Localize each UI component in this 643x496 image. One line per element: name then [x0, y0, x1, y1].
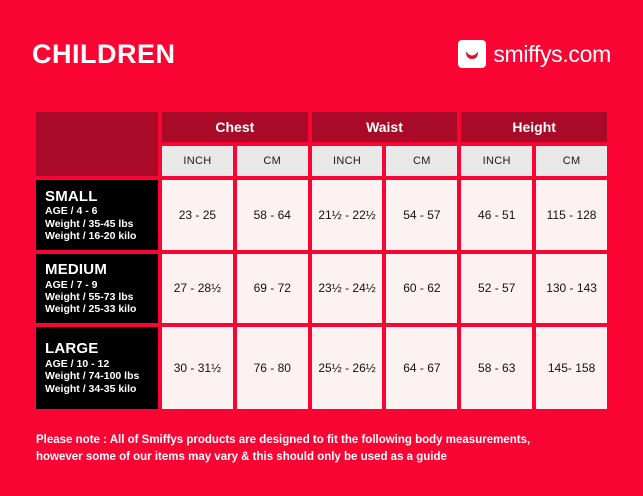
- size-name: SMALL: [45, 188, 158, 206]
- group-header-chest: Chest: [162, 112, 308, 142]
- cell-chest-cm: 58 - 64: [237, 180, 308, 250]
- cell-height-cm: 145- 158: [536, 327, 607, 409]
- page-title: CHILDREN: [32, 39, 176, 70]
- size-chart-table: Chest Waist Height INCH CM INCH CM INCH …: [32, 108, 611, 413]
- size-chart-page: CHILDREN smiffys.com Chest Waist Height …: [0, 0, 643, 496]
- size-weight-lbs: Weight / 35-45 lbs: [45, 218, 158, 230]
- size-weight-lbs: Weight / 55-73 lbs: [45, 291, 158, 303]
- size-weight-kilo: Weight / 25-33 kilo: [45, 303, 158, 315]
- table-row: SMALL AGE / 4 - 6 Weight / 35-45 lbs Wei…: [36, 180, 607, 250]
- cell-chest-inch: 23 - 25: [162, 180, 233, 250]
- brand-name: smiffys.com: [493, 41, 611, 68]
- cell-height-inch: 58 - 63: [461, 327, 532, 409]
- size-weight-lbs: Weight / 74-100 lbs: [45, 370, 158, 382]
- cell-height-inch: 52 - 57: [461, 254, 532, 323]
- footer-note-line1: Please note : All of Smiffys products ar…: [36, 432, 611, 449]
- unit-header-height-inch: INCH: [461, 146, 532, 176]
- cell-waist-inch: 23½ - 24½: [312, 254, 383, 323]
- size-weight-kilo: Weight / 16-20 kilo: [45, 230, 158, 242]
- footer-disclaimer: Please note : All of Smiffys products ar…: [36, 432, 611, 467]
- cell-height-inch: 46 - 51: [461, 180, 532, 250]
- unit-header-chest-inch: INCH: [162, 146, 233, 176]
- group-header-height: Height: [461, 112, 607, 142]
- size-age: AGE / 10 - 12: [45, 358, 158, 370]
- group-header-waist: Waist: [312, 112, 458, 142]
- page-header: CHILDREN smiffys.com: [32, 0, 611, 108]
- size-label-small: SMALL AGE / 4 - 6 Weight / 35-45 lbs Wei…: [36, 180, 158, 250]
- cell-chest-cm: 76 - 80: [237, 327, 308, 409]
- size-name: LARGE: [45, 340, 158, 358]
- corner-header-cell: [36, 112, 158, 176]
- cell-height-cm: 115 - 128: [536, 180, 607, 250]
- unit-header-waist-inch: INCH: [312, 146, 383, 176]
- unit-header-waist-cm: CM: [386, 146, 457, 176]
- size-age: AGE / 4 - 6: [45, 205, 158, 217]
- size-label-medium: MEDIUM AGE / 7 - 9 Weight / 55-73 lbs We…: [36, 254, 158, 323]
- footer-note-line2: however some of our items may vary & thi…: [36, 449, 611, 466]
- cell-chest-inch: 27 - 28½: [162, 254, 233, 323]
- cell-waist-cm: 60 - 62: [386, 254, 457, 323]
- cell-waist-inch: 25½ - 26½: [312, 327, 383, 409]
- cell-waist-cm: 54 - 57: [386, 180, 457, 250]
- size-weight-kilo: Weight / 34-35 kilo: [45, 383, 158, 395]
- smile-check-icon: [458, 40, 486, 68]
- cell-height-cm: 130 - 143: [536, 254, 607, 323]
- cell-chest-inch: 30 - 31½: [162, 327, 233, 409]
- table-group-header-row: Chest Waist Height: [36, 112, 607, 142]
- unit-header-height-cm: CM: [536, 146, 607, 176]
- brand-logo: smiffys.com: [458, 40, 611, 68]
- unit-header-chest-cm: CM: [237, 146, 308, 176]
- size-name: MEDIUM: [45, 261, 158, 279]
- table-row: MEDIUM AGE / 7 - 9 Weight / 55-73 lbs We…: [36, 254, 607, 323]
- size-age: AGE / 7 - 9: [45, 279, 158, 291]
- table-row: LARGE AGE / 10 - 12 Weight / 74-100 lbs …: [36, 327, 607, 409]
- cell-chest-cm: 69 - 72: [237, 254, 308, 323]
- cell-waist-inch: 21½ - 22½: [312, 180, 383, 250]
- cell-waist-cm: 64 - 67: [386, 327, 457, 409]
- size-label-large: LARGE AGE / 10 - 12 Weight / 74-100 lbs …: [36, 327, 158, 409]
